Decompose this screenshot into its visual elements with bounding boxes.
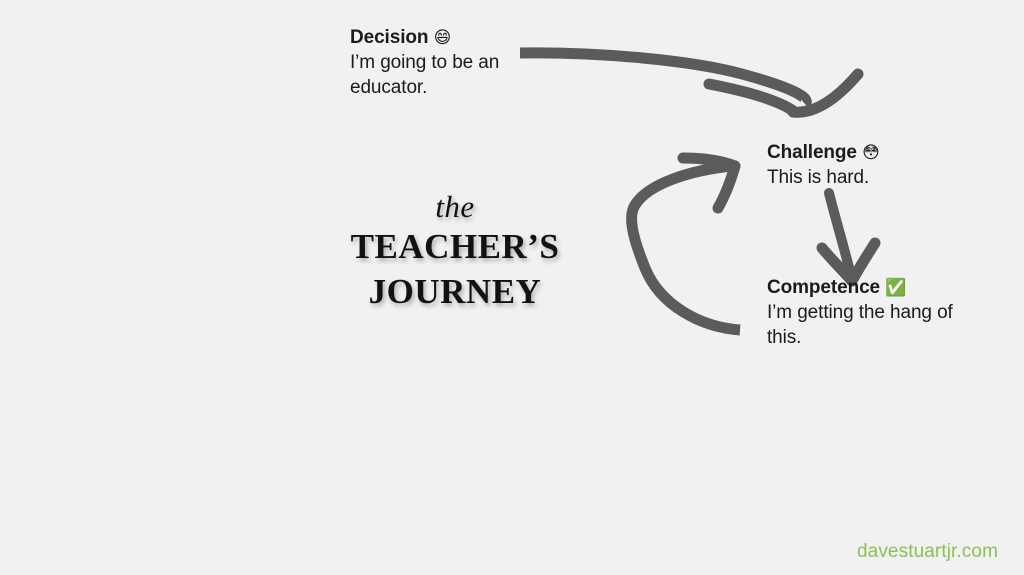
stage-body-competence: I’m getting the hang of this. [767, 300, 992, 350]
grinning-face-with-smiling-eyes-icon: 😄 [434, 28, 452, 48]
slide-canvas: Decision 😄 I’m going to be an educator. … [0, 0, 1024, 575]
page-title-main: TEACHER’S JOURNEY [330, 225, 580, 313]
stage-note-competence: Competence ✅ I’m getting the hang of thi… [767, 276, 992, 350]
stage-heading-competence: Competence ✅ [767, 276, 992, 300]
arrow-decision-to-challenge [520, 53, 858, 112]
stage-body-challenge: This is hard. [767, 165, 987, 190]
page-title: the TEACHER’S JOURNEY [330, 190, 580, 314]
stage-heading-decision: Decision 😄 [350, 26, 550, 50]
arrow-competence-to-challenge [632, 158, 740, 330]
stage-heading-decision-text: Decision [350, 27, 428, 48]
stage-note-challenge: Challenge 😳 This is hard. [767, 141, 987, 190]
page-title-line-teachers: TEACHER’S [330, 225, 580, 269]
site-watermark: davestuartjr.com [857, 541, 998, 563]
arrow-challenge-to-competence [822, 193, 875, 281]
page-title-line-the: the [330, 190, 580, 223]
flushed-face-icon: 😳 [862, 143, 880, 163]
stage-body-decision: I’m going to be an educator. [350, 50, 550, 100]
white-check-mark-icon: ✅ [885, 278, 906, 298]
stage-heading-challenge-text: Challenge [767, 142, 857, 163]
page-title-line-journey: JOURNEY [330, 270, 580, 314]
stage-heading-challenge: Challenge 😳 [767, 141, 987, 165]
stage-heading-competence-text: Competence [767, 277, 880, 298]
stage-note-decision: Decision 😄 I’m going to be an educator. [350, 26, 550, 100]
